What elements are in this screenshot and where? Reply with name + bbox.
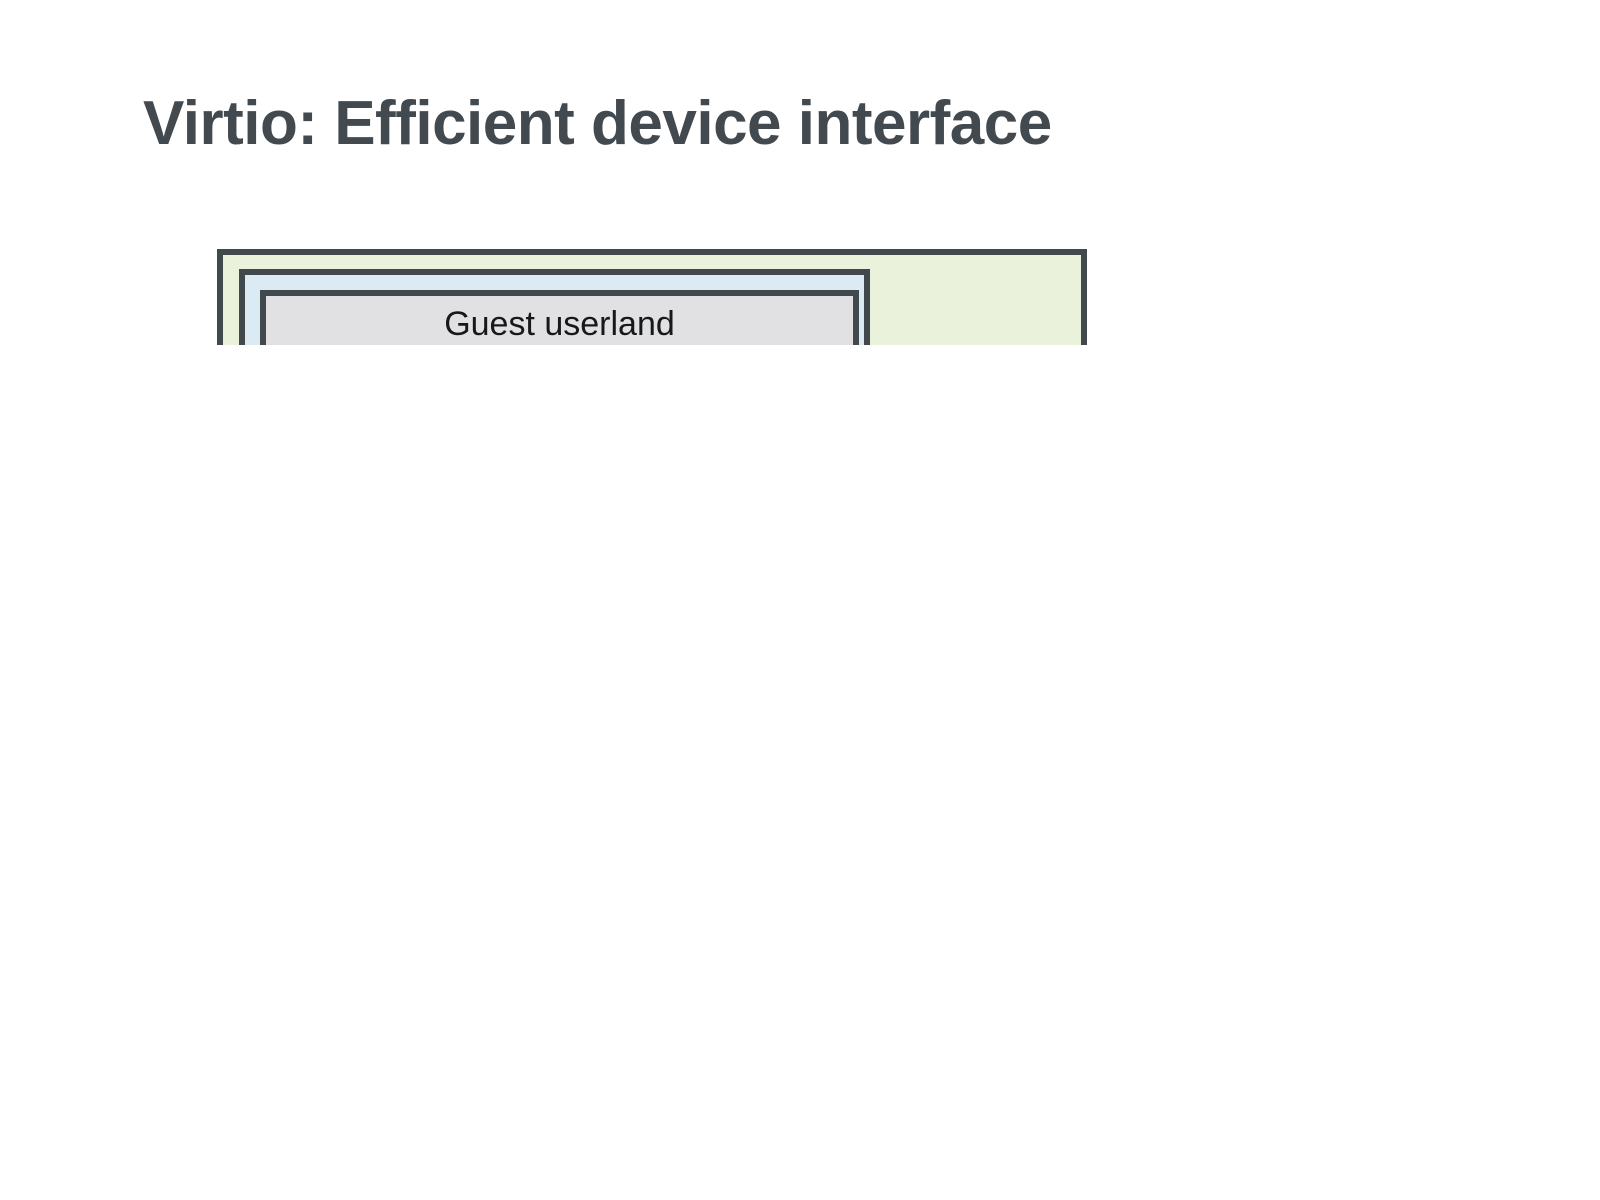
diagram-guest-userland-box: Guest userland [260,290,859,345]
diagram-outer-box: Guest userland [217,249,1087,345]
slide-canvas: Virtio: Efficient device interface Guest… [0,0,1600,1200]
diagram-middle-box: Guest userland [239,269,870,345]
guest-userland-label: Guest userland [444,304,675,344]
page-title: Virtio: Efficient device interface [143,88,1463,160]
architecture-diagram: Guest userland [0,240,1600,345]
